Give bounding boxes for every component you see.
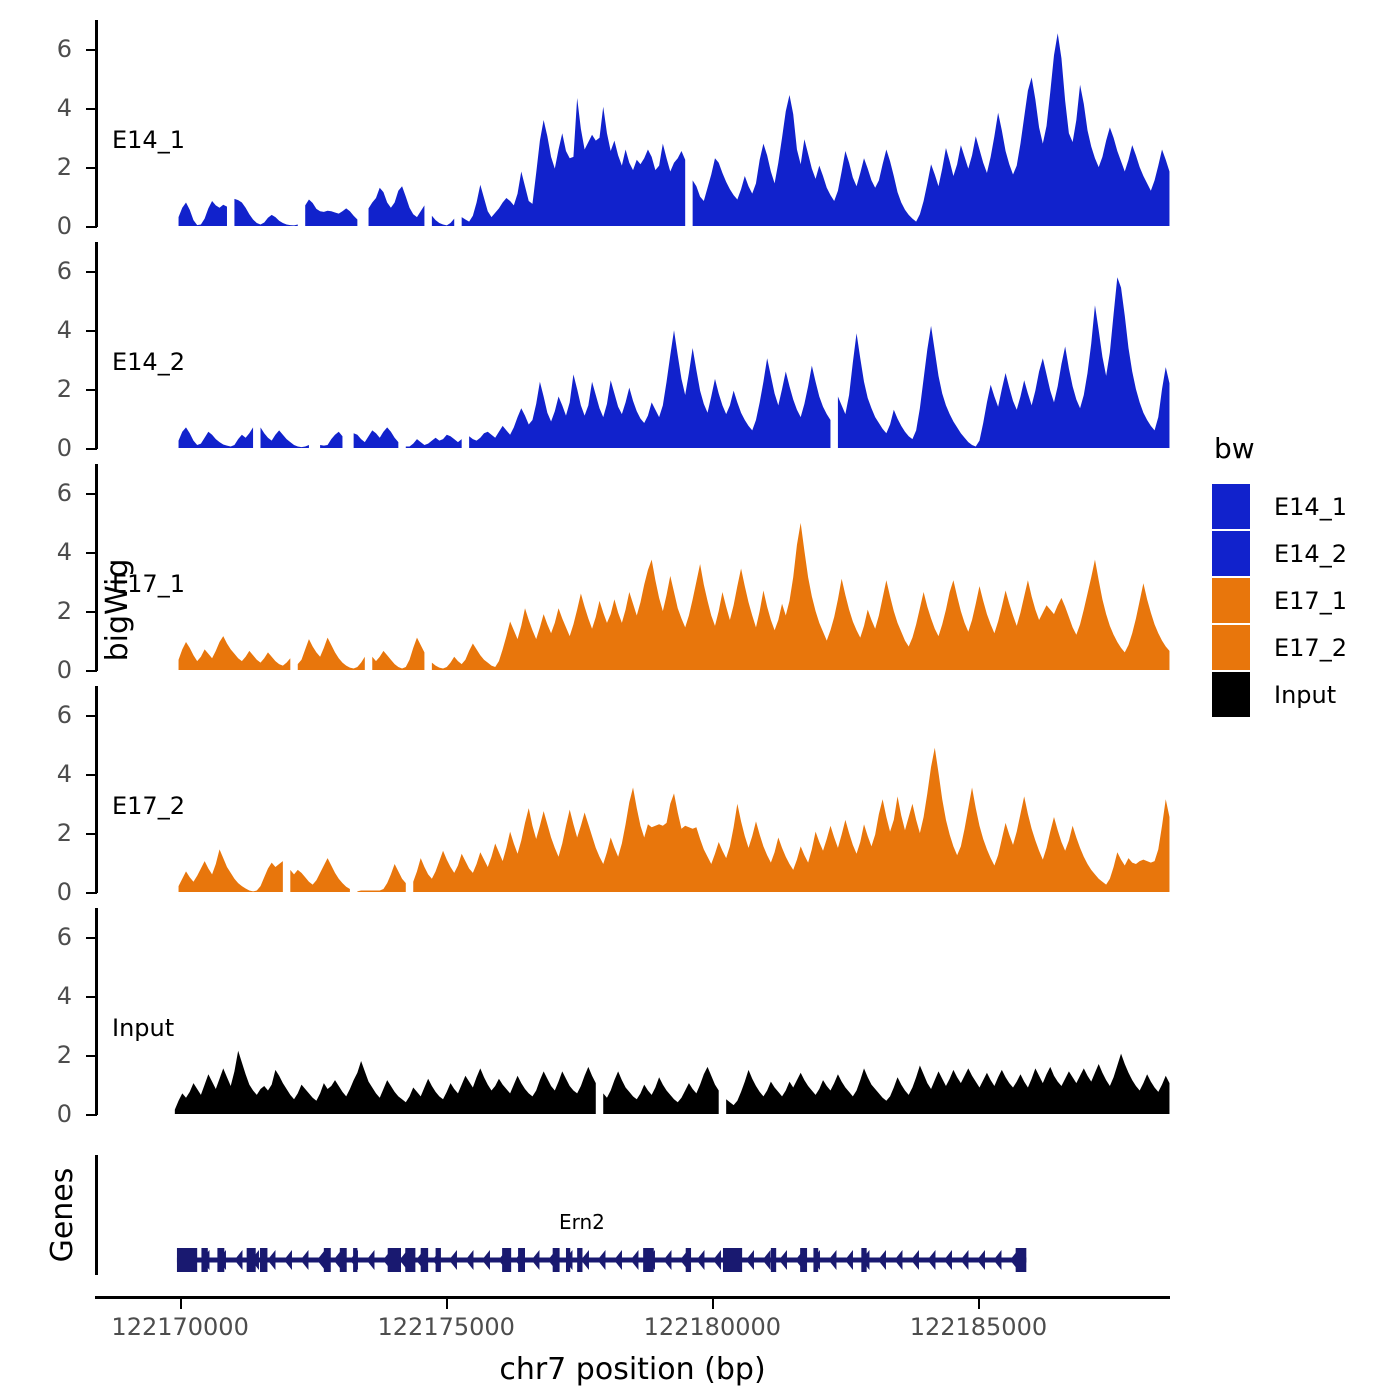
legend-item-label: Input xyxy=(1274,681,1336,709)
x-tick-label: 122170000 xyxy=(80,1313,280,1341)
legend-swatch-icon xyxy=(1212,578,1250,623)
x-axis-title: chr7 position (bp) xyxy=(95,1352,1170,1387)
legend-swatch-icon xyxy=(1212,625,1250,670)
x-tick-label: 122185000 xyxy=(878,1313,1078,1341)
legend-item-e14_1[interactable]: E14_1 xyxy=(1212,483,1392,530)
legend-item-label: E17_1 xyxy=(1274,587,1347,615)
x-axis-line xyxy=(95,1296,1170,1299)
genes-panel: Ern2 xyxy=(0,1155,1200,1300)
legend: bw E14_1E14_2E17_1E17_2Input xyxy=(1212,432,1392,718)
track-panel-e14_2: 0246E14_2 xyxy=(0,242,1200,469)
legend-item-input[interactable]: Input xyxy=(1212,671,1392,718)
legend-swatch-icon xyxy=(1212,672,1250,717)
track-area-e17_2 xyxy=(0,686,1200,909)
track-area-e14_1 xyxy=(0,20,1200,243)
track-panel-e14_1: 0246E14_1 xyxy=(0,20,1200,247)
legend-item-e17_2[interactable]: E17_2 xyxy=(1212,624,1392,671)
x-tick xyxy=(712,1299,714,1309)
x-tick xyxy=(446,1299,448,1309)
track-area-input xyxy=(0,908,1200,1131)
track-panel-input: 0246Input xyxy=(0,908,1200,1135)
gene-model-ern2[interactable] xyxy=(0,1155,1200,1300)
legend-title: bw xyxy=(1214,432,1392,465)
legend-item-e17_1[interactable]: E17_1 xyxy=(1212,577,1392,624)
x-tick xyxy=(978,1299,980,1309)
track-area-e14_2 xyxy=(0,242,1200,465)
legend-swatch-icon xyxy=(1212,531,1250,576)
legend-item-label: E17_2 xyxy=(1274,634,1347,662)
x-tick xyxy=(180,1299,182,1309)
track-area-e17_1 xyxy=(0,464,1200,687)
legend-item-label: E14_2 xyxy=(1274,540,1347,568)
track-panel-e17_1: 0246E17_1 xyxy=(0,464,1200,691)
legend-items: E14_1E14_2E17_1E17_2Input xyxy=(1212,483,1392,718)
x-tick-label: 122175000 xyxy=(346,1313,546,1341)
track-panel-e17_2: 0246E17_2 xyxy=(0,686,1200,913)
x-tick-label: 122180000 xyxy=(612,1313,812,1341)
legend-item-label: E14_1 xyxy=(1274,493,1347,521)
legend-item-e14_2[interactable]: E14_2 xyxy=(1212,530,1392,577)
legend-swatch-icon xyxy=(1212,484,1250,529)
